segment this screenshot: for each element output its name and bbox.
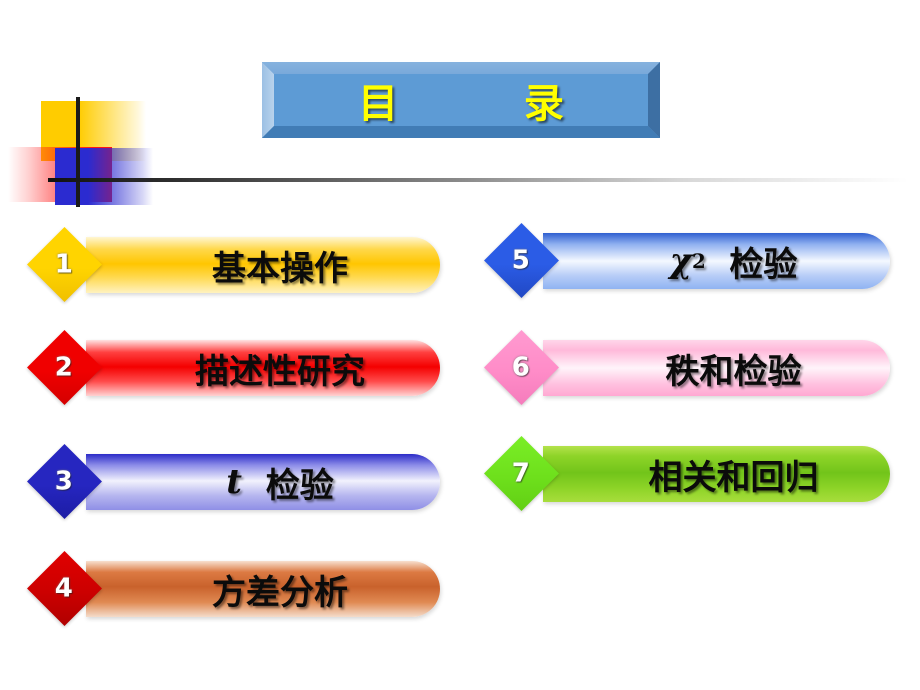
menu-item-2-bar[interactable]: 描述性研究	[86, 340, 440, 396]
page-title: 目 录	[344, 71, 578, 129]
slide-title-banner: 目 录	[262, 62, 660, 138]
menu-item-3-bar[interactable]: t 检验	[86, 454, 440, 510]
menu-item-5-number: 5	[512, 248, 530, 274]
menu-item-4-label: 方差分析	[86, 561, 440, 617]
menu-item-5-label: χ2 检验	[543, 233, 890, 289]
menu-item-2-label: 描述性研究	[86, 340, 440, 396]
slide-canvas: 目 录 基本操作 1 描述性研究 2 t 检验 3 方差分析 4	[0, 0, 920, 690]
menu-item-4-bar[interactable]: 方差分析	[86, 561, 440, 617]
menu-item-6-label: 秩和检验	[543, 340, 890, 396]
menu-item-1-number: 1	[55, 252, 73, 278]
decor-horizontal-rule	[48, 178, 908, 182]
banner-bevel-right	[648, 62, 660, 138]
menu-item-3-label: t 检验	[86, 454, 440, 510]
menu-item-3-number: 3	[55, 469, 73, 495]
menu-item-7-bar[interactable]: 相关和回归	[543, 446, 890, 502]
menu-item-7-number: 7	[512, 461, 530, 487]
banner-face: 目 录	[274, 74, 648, 126]
menu-item-1-label: 基本操作	[86, 237, 440, 293]
menu-item-6-bar[interactable]: 秩和检验	[543, 340, 890, 396]
decor-vertical-rule	[76, 97, 80, 207]
menu-item-5-bar[interactable]: χ2 检验	[543, 233, 890, 289]
banner-bevel-left	[262, 62, 274, 138]
menu-item-6-number: 6	[512, 355, 530, 381]
decorative-artwork	[0, 0, 260, 230]
decor-blue-square	[55, 148, 153, 205]
menu-item-4-number: 4	[55, 576, 73, 602]
menu-item-1-bar[interactable]: 基本操作	[86, 237, 440, 293]
menu-item-2-number: 2	[55, 355, 73, 381]
menu-item-7-label: 相关和回归	[543, 446, 890, 502]
